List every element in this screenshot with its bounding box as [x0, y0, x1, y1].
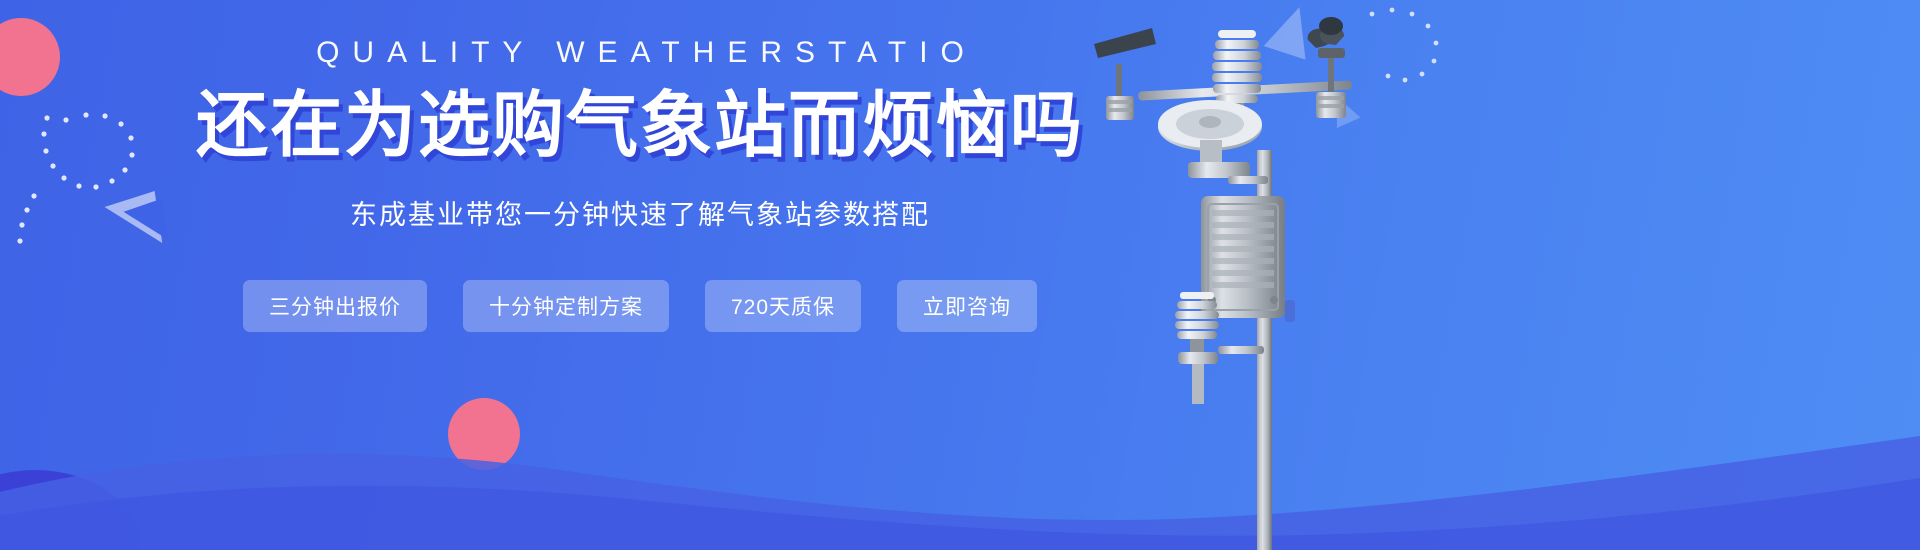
cta-warranty-button[interactable]: 720天质保 [705, 280, 861, 332]
wind-vane-icon [1094, 28, 1156, 120]
cta-consult-now-button[interactable]: 立即咨询 [897, 280, 1037, 332]
subtitle-text: 东成基业带您一分钟快速了解气象站参数搭配 [350, 193, 930, 232]
anemometer-cups-icon [1308, 17, 1346, 118]
radiation-shield-lower-icon [1175, 292, 1219, 404]
cta-pill-row: 三分钟出报价 十分钟定制方案 720天质保 立即咨询 [243, 280, 1037, 332]
page-title: 还在为选购气象站而烦恼吗 [196, 86, 1084, 167]
promo-banner: QUALITY WEATHERSTATIO 还在为选购气象站而烦恼吗 东成基业带… [0, 0, 1920, 550]
weather-station-image [1060, 0, 1480, 550]
eyebrow-text: QUALITY WEATHERSTATIO [303, 36, 977, 70]
cta-custom-plan-button[interactable]: 十分钟定制方案 [463, 280, 669, 332]
cta-quote-button[interactable]: 三分钟出报价 [243, 280, 427, 332]
solar-radiation-sensor-disc-icon [1158, 100, 1262, 178]
